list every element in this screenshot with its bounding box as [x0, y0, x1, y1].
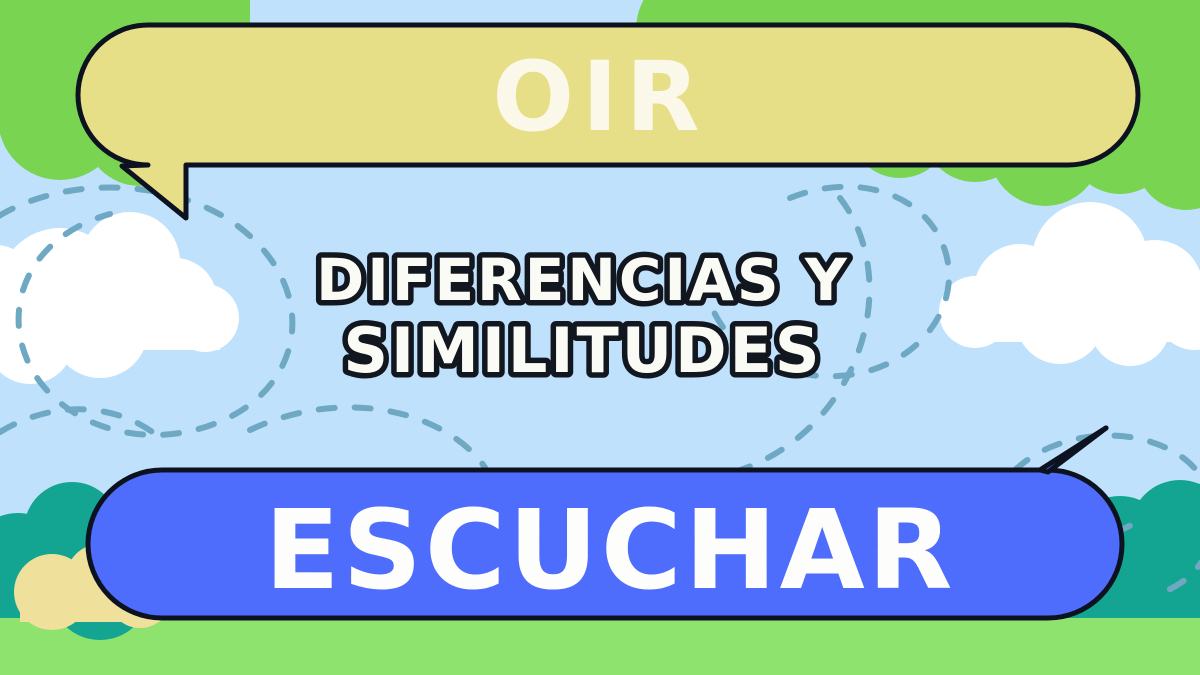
bottom-bubble-label-grain: ESCUCHAR — [264, 486, 955, 614]
middle-heading: DIFERENCIAS Y SIMILITUDES — [316, 246, 850, 387]
poster-canvas: OIR OIR DIFERENCIAS Y SIMILITUDES ESCUCH… — [0, 0, 1200, 675]
middle-heading-line-2: SIMILITUDES — [343, 314, 822, 387]
top-bubble-label-base: OIR — [492, 41, 707, 153]
scene-illustration: OIR OIR DIFERENCIAS Y SIMILITUDES ESCUCH… — [0, 0, 1200, 675]
middle-heading-line-1: DIFERENCIAS Y — [316, 246, 850, 314]
